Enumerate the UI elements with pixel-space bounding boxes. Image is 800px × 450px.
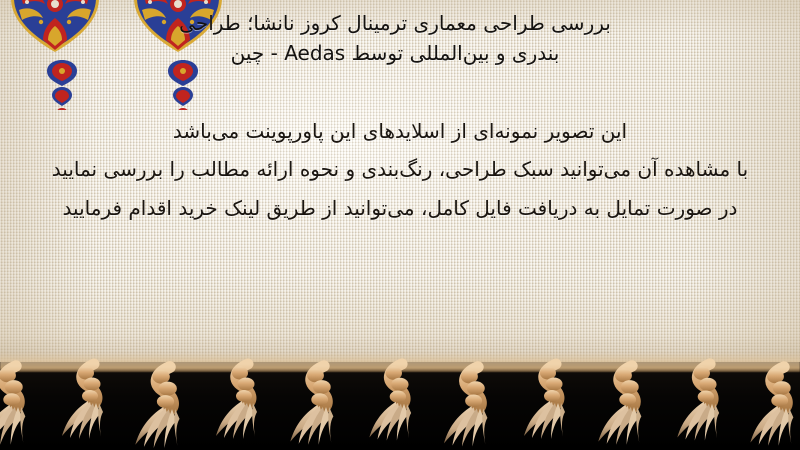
slide-title: بررسی طراحی معماری ترمینال کروز نانشا؛ ط… (0, 8, 790, 69)
dark-background-band (0, 362, 800, 450)
slide-body-line-2: با مشاهده آن می‌توانید سبک طراحی، رنگ‌بن… (0, 150, 800, 188)
slide-body-line-1: این تصویر نمونه‌ای از اسلایدهای این پاور… (0, 112, 800, 150)
slide-title-line-2: بندری و بین‌المللی توسط Aedas - چین (0, 38, 790, 68)
carpet-selvedge-edge (0, 352, 800, 372)
slide-title-line-1: بررسی طراحی معماری ترمینال کروز نانشا؛ ط… (0, 8, 790, 38)
slide-canvas: بررسی طراحی معماری ترمینال کروز نانشا؛ ط… (0, 0, 800, 450)
slide-body-line-3: در صورت تمایل به دریافت فایل کامل، می‌تو… (0, 189, 800, 227)
slide-body: این تصویر نمونه‌ای از اسلایدهای این پاور… (0, 112, 800, 227)
